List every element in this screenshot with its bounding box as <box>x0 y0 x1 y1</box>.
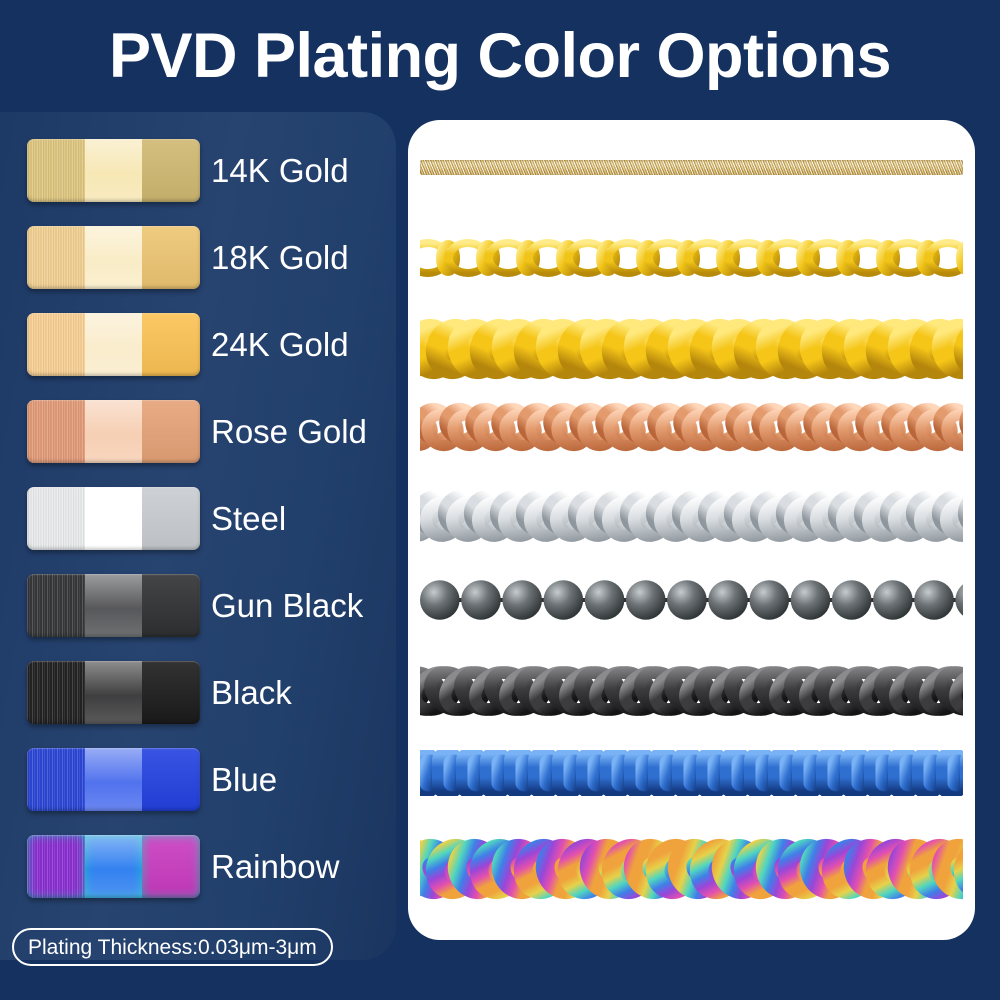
chain-row[interactable] <box>420 660 963 722</box>
chain-row[interactable] <box>420 232 963 284</box>
swatch-segment-polish <box>85 313 142 376</box>
swatch-segment-brushed <box>27 661 85 724</box>
swatch-row[interactable]: 14K Gold <box>27 138 387 202</box>
swatch-segment-matte <box>142 226 200 289</box>
swatch-segment-brushed <box>27 574 85 637</box>
swatch-segment-matte <box>142 487 200 550</box>
swatch-14k-gold[interactable] <box>27 139 200 202</box>
swatch-segment-polish <box>85 748 142 811</box>
swatch-segment-polish <box>85 139 142 202</box>
swatch-rainbow[interactable] <box>27 835 200 898</box>
swatch-label: Black <box>211 676 292 709</box>
swatch-segment-brushed <box>27 313 85 376</box>
swatch-label: 24K Gold <box>211 328 349 361</box>
swatch-segment-matte <box>142 574 200 637</box>
swatch-label: Gun Black <box>211 589 363 622</box>
swatch-steel[interactable] <box>27 487 200 550</box>
swatch-segment-matte <box>142 835 200 898</box>
swatch-label: Rose Gold <box>211 415 367 448</box>
swatch-list: 14K Gold18K Gold24K GoldRose GoldSteelGu… <box>0 0 400 1000</box>
swatch-row[interactable]: Steel <box>27 486 387 550</box>
swatch-label: Rainbow <box>211 850 339 883</box>
chain-cable-gold <box>420 232 963 284</box>
swatch-blue[interactable] <box>27 748 200 811</box>
chain-row[interactable] <box>420 488 963 544</box>
swatch-18k-gold[interactable] <box>27 226 200 289</box>
chain-curb-rainbow <box>420 838 963 900</box>
swatch-segment-brushed <box>27 226 85 289</box>
chain-rope-steel <box>420 488 963 544</box>
swatch-segment-brushed <box>27 835 85 898</box>
chain-rope-rose-gold <box>420 402 963 452</box>
chain-wheat-black <box>420 660 963 722</box>
chain-curb-gold <box>420 318 963 380</box>
chain-row[interactable] <box>420 838 963 900</box>
chain-box-blue <box>420 750 963 796</box>
swatch-label: Blue <box>211 763 277 796</box>
swatch-segment-matte <box>142 661 200 724</box>
swatch-row[interactable]: 24K Gold <box>27 312 387 376</box>
chain-row[interactable] <box>420 158 963 176</box>
swatch-segment-brushed <box>27 400 85 463</box>
swatch-segment-matte <box>142 313 200 376</box>
swatch-row[interactable]: Rainbow <box>27 834 387 898</box>
swatch-segment-brushed <box>27 748 85 811</box>
chain-row[interactable] <box>420 318 963 380</box>
swatch-label: 18K Gold <box>211 241 349 274</box>
swatch-gun-black[interactable] <box>27 574 200 637</box>
swatch-24k-gold[interactable] <box>27 313 200 376</box>
swatch-segment-matte <box>142 400 200 463</box>
swatch-segment-brushed <box>27 487 85 550</box>
chain-row[interactable] <box>420 750 963 796</box>
swatch-row[interactable]: Black <box>27 660 387 724</box>
swatch-segment-polish <box>85 400 142 463</box>
swatch-segment-matte <box>142 748 200 811</box>
chain-samples-card <box>408 120 975 940</box>
swatch-rose-gold[interactable] <box>27 400 200 463</box>
swatch-row[interactable]: Blue <box>27 747 387 811</box>
swatch-row[interactable]: 18K Gold <box>27 225 387 289</box>
swatch-segment-polish <box>85 487 142 550</box>
swatch-label: Steel <box>211 502 286 535</box>
swatch-segment-polish <box>85 835 142 898</box>
swatch-segment-polish <box>85 574 142 637</box>
swatch-segment-polish <box>85 226 142 289</box>
swatch-segment-polish <box>85 661 142 724</box>
swatch-black[interactable] <box>27 661 200 724</box>
chain-herringbone-gold <box>420 160 963 175</box>
swatch-row[interactable]: Rose Gold <box>27 399 387 463</box>
plating-thickness-label: Plating Thickness:0.03μm-3μm <box>28 937 317 958</box>
swatch-segment-matte <box>142 139 200 202</box>
swatch-row[interactable]: Gun Black <box>27 573 387 637</box>
swatch-label: 14K Gold <box>211 154 349 187</box>
chain-bead-gun-black <box>420 578 963 622</box>
chain-row[interactable] <box>420 578 963 622</box>
swatch-segment-brushed <box>27 139 85 202</box>
chain-row[interactable] <box>420 402 963 452</box>
plating-thickness-badge: Plating Thickness:0.03μm-3μm <box>12 928 333 966</box>
